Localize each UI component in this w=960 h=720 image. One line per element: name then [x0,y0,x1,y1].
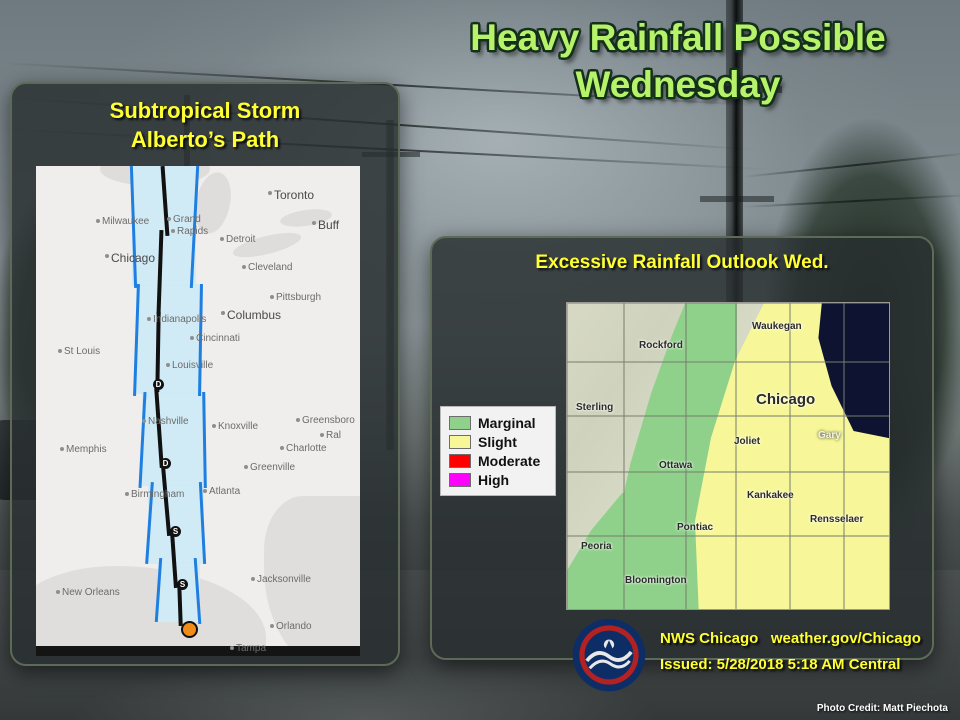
track-map-city-dot [125,492,129,496]
outlook-map-city-label: Peoria [581,541,612,552]
county-outline [735,302,737,610]
track-map-city-label: Chicago [111,251,155,265]
track-map-city-label: Charlotte [286,443,327,454]
track-map-city-label: Milwaukee [102,216,149,227]
track-map-city-label: Columbus [227,308,281,322]
track-map-city-label: Ral [326,430,341,441]
track-map-city-label: Pittsburgh [276,292,321,303]
nws-seal-icon [572,618,646,692]
track-map-city-dot [167,217,171,221]
track-map-city-dot [320,433,324,437]
track-map-city-dot [268,191,272,195]
track-map-city-label: Nashville [148,416,189,427]
forecast-cone [142,392,206,486]
track-map-city-dot [96,219,100,223]
track-map-city-label: Louisville [172,360,213,371]
track-map-city-label: Knoxville [218,421,258,432]
pole-crossarm [700,196,774,202]
headline-line-1: Heavy Rainfall Possible [400,14,956,61]
storm-path-title: Subtropical Storm Alberto’s Path [12,96,398,154]
storm-path-title-line-2: Alberto’s Path [12,125,398,154]
track-map-city-dot [171,229,175,233]
legend-item: Marginal [449,413,547,432]
track-map-city-dot [166,363,170,367]
track-map-city-label: St Louis [64,346,100,357]
county-outline [843,302,845,610]
footer-office: NWS Chicago [660,630,758,647]
outlook-map-city-label: Joliet [734,436,760,447]
headline-line-2: Wednesday [400,61,956,108]
track-map-city-dot [56,590,60,594]
outlook-map-city-label: Pontiac [677,522,713,533]
headline: Heavy Rainfall Possible Wednesday [400,14,956,108]
track-map-city-label: Tampa [236,643,266,654]
county-outline [789,302,791,610]
track-map-city-dot [142,419,146,423]
outlook-map-city-label: Chicago [756,391,815,408]
track-map-city-label: Birmingham [131,489,184,500]
legend-item: High [449,470,547,489]
weather-graphic: Heavy Rainfall Possible Wednesday Subtro… [0,0,960,720]
footer-issued: Issued: 5/28/2018 5:18 AM Central [660,656,900,673]
county-outline [566,361,890,363]
track-map-city-label: New Orleans [62,587,120,598]
track-map-city-label: Memphis [66,444,107,455]
track-map-city-label: Indianapolis [153,314,206,325]
storm-track-node: S [177,579,188,590]
storm-track-node: D [160,458,171,469]
excessive-rainfall-outlook-map: WaukeganRockfordChicagoSterlingJolietGar… [566,302,890,610]
outlook-map-city-label: Waukegan [752,321,802,332]
track-map-city-dot [221,311,225,315]
track-map-city-label: Jacksonville [257,574,311,585]
track-map-city-label: Atlanta [209,486,240,497]
storm-track-map: TorontoBuffMilwaukeeGrandRapidsDetroitCh… [36,166,360,656]
storm-path-title-line-1: Subtropical Storm [12,96,398,125]
county-outline [567,303,890,610]
outlook-map-city-label: Gary [818,430,841,441]
legend-swatch-slight [449,435,471,449]
footer-office-line: NWS Chicago weather.gov/Chicago [660,630,921,647]
track-map-city-label: Detroit [226,234,255,245]
track-map-city-dot [203,489,207,493]
track-map-city-label: Rapids [177,226,208,237]
county-outline [566,415,890,417]
footer-website: weather.gov/Chicago [771,630,921,647]
track-map-city-label: Greensboro [302,415,355,426]
track-map-city-dot [212,424,216,428]
track-map-city-dot [60,447,64,451]
track-map-city-label: Grand [173,214,201,225]
legend-label: High [478,472,509,488]
track-map-city-dot [242,265,246,269]
track-map-city-label: Toronto [274,188,314,202]
risk-legend: Marginal Slight Moderate High [440,406,556,496]
nws-logo [572,618,646,692]
track-map-city-dot [251,577,255,581]
legend-label: Slight [478,434,517,450]
track-map-city-label: Orlando [276,621,312,632]
county-outline [566,471,890,473]
legend-label: Marginal [478,415,536,431]
track-map-city-dot [230,646,234,650]
county-outline [566,535,890,537]
track-map-city-dot [58,349,62,353]
legend-item: Slight [449,432,547,451]
outlook-map-city-label: Sterling [576,402,613,413]
storm-track-node: S [170,526,181,537]
track-map-city-label: Cleveland [248,262,292,273]
track-map-city-dot [105,254,109,258]
track-map-city-dot [280,446,284,450]
track-map-city-dot [147,317,151,321]
rainfall-outlook-title: Excessive Rainfall Outlook Wed. [432,252,932,274]
storm-track-node: D [153,379,164,390]
legend-label: Moderate [478,453,540,469]
track-map-footer-bar [36,646,360,656]
track-map-city-dot [312,221,316,225]
outlook-map-city-label: Ottawa [659,460,692,471]
track-map-city-label: Buff [318,218,339,232]
track-map-city-label: Greenville [250,462,295,473]
storm-origin-marker [181,621,198,638]
outlook-map-city-label: Rensselaer [810,514,863,525]
track-map-city-label: Cincinnati [196,333,240,344]
track-map-city-dot [270,624,274,628]
track-map-city-dot [296,418,300,422]
photo-credit: Photo Credit: Matt Piechota [817,703,948,714]
outlook-map-city-label: Kankakee [747,490,794,501]
legend-swatch-moderate [449,454,471,468]
legend-swatch-high [449,473,471,487]
track-map-city-dot [270,295,274,299]
track-map-city-dot [190,336,194,340]
legend-item: Moderate [449,451,547,470]
county-outline [623,302,625,610]
track-map-city-dot [244,465,248,469]
outlook-map-city-label: Rockford [639,340,683,351]
legend-swatch-marginal [449,416,471,430]
outlook-map-city-label: Bloomington [625,575,687,586]
county-outline [685,302,687,610]
track-map-city-dot [220,237,224,241]
